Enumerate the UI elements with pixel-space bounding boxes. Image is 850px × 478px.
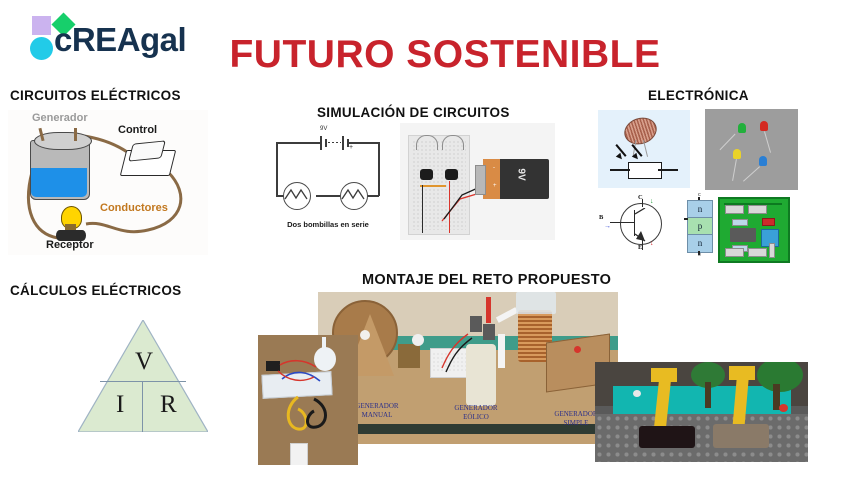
ldr-panel	[598, 110, 690, 188]
photo-wires	[428, 328, 518, 378]
logo-square-icon	[32, 16, 51, 35]
pcb-capacitor	[769, 243, 775, 258]
pcb-led	[762, 218, 775, 226]
led-blue-leg	[743, 166, 760, 182]
wind-blade-red	[486, 297, 491, 323]
simple-generator-led	[574, 346, 581, 353]
led-red-leg	[764, 131, 771, 152]
tinkercad-simulation-photo: - + 9V	[400, 123, 555, 240]
triangle-voltage: V	[135, 348, 153, 376]
logo-circle-icon	[30, 37, 53, 60]
photo-breadboard-circuit	[258, 335, 358, 465]
led-yellow-leg	[732, 159, 737, 181]
transistor-label-e: E	[638, 244, 642, 251]
pcb-ic-chip	[730, 228, 756, 242]
led-green-leg	[720, 134, 736, 151]
transistor-symbol: C B E ↓ ↓ →	[598, 196, 676, 258]
circuit-diagram-figure: Generador Control Conductores Receptor	[8, 110, 208, 255]
bulb-filament-2	[340, 182, 366, 208]
lamp-receptor-icon	[54, 206, 88, 242]
section-heading-circuitos: CIRCUITOS ELÉCTRICOS	[10, 88, 181, 103]
jumper-loop-2	[442, 135, 464, 150]
manual-generator-crank	[360, 330, 370, 340]
ev-charger-head-2	[729, 366, 755, 380]
wire-bottom-2	[316, 195, 340, 197]
battery-minus-label: -	[493, 165, 495, 171]
logo-wordmark: cREAgal	[54, 21, 186, 59]
battery-long-plate-2	[342, 136, 344, 150]
npn-layer-bottom: n	[687, 234, 713, 253]
pcb-pad-4	[748, 248, 767, 257]
battery-9v-photo: - + 9V	[475, 159, 549, 199]
label-control: Control	[118, 124, 157, 136]
coil-component	[398, 344, 420, 368]
pcb-board-icon	[718, 197, 790, 263]
triangle-resistance: R	[160, 391, 177, 419]
current-arrow-emitter: ↓	[650, 240, 654, 247]
ev-charger-head-1	[651, 368, 677, 382]
led-blue-icon	[759, 156, 767, 166]
schematic-caption: Dos bombillas en serie	[268, 220, 388, 229]
flower-white	[633, 390, 641, 397]
jumper-black	[422, 185, 423, 233]
triangle-current: I	[116, 391, 124, 419]
bulb-component-1	[420, 169, 433, 180]
triangle-divider-vertical	[142, 381, 143, 432]
battery-short-plate-1	[325, 139, 327, 147]
series-circuit-schematic: 9V + Dos bombillas en serie	[268, 128, 388, 233]
switch-control-icon	[123, 140, 175, 178]
ldr-symbol	[610, 162, 678, 180]
npn-label-collector: c	[698, 192, 701, 198]
car-light	[713, 424, 769, 448]
schematic-voltage-label: 9V	[320, 126, 327, 132]
page-title: FUTURO SOSTENIBLE	[210, 33, 680, 77]
battery-generator-icon	[30, 132, 92, 204]
jumper-loop-1	[416, 135, 438, 150]
battery-long-plate-1	[320, 136, 322, 150]
small-motor	[412, 334, 424, 346]
pcb-pad-3	[725, 248, 744, 257]
npn-layers-diagram: n p n c e	[684, 197, 714, 257]
section-heading-calculos: CÁLCULOS ELÉCTRICOS	[10, 283, 181, 298]
photo-generators-setup: GENERADOR MANUAL GENERADOR EÓLICO GENERA…	[318, 292, 618, 444]
section-heading-electronica: ELECTRÓNICA	[648, 88, 749, 103]
ldr-photo-icon	[621, 114, 660, 149]
flower-red	[779, 404, 788, 412]
transistor-label-c: C	[638, 194, 643, 201]
pcb-pad-1	[725, 205, 744, 214]
leds-photo-panel	[705, 109, 798, 190]
battery-voltage-label: 9V	[516, 168, 527, 180]
wire-right	[378, 142, 380, 196]
photo-ev-charging-model	[595, 362, 808, 462]
led-yellow-icon	[733, 149, 741, 159]
label-conductores: Conductores	[100, 202, 168, 214]
battery-dashed-link	[328, 142, 341, 143]
photo-cables-left	[278, 393, 338, 453]
section-heading-simulacion: SIMULACIÓN DE CIRCUITOS	[317, 105, 510, 120]
ohm-law-triangle: V I R	[78, 320, 208, 432]
photo-label-eolico: GENERADOR EÓLICO	[438, 404, 514, 422]
car-dark	[639, 426, 695, 448]
plastic-cup	[516, 292, 556, 314]
npn-label-emitter: e	[698, 252, 701, 258]
multimeter-probe	[290, 443, 308, 465]
model-ground	[595, 414, 808, 462]
spoon-handle	[322, 337, 326, 353]
section-heading-montaje: MONTAJE DEL RETO PROPUESTO	[362, 272, 611, 288]
brand-logo: cREAgal	[24, 14, 184, 66]
current-arrow-collector: ↓	[650, 198, 654, 205]
pcb-resistor-1	[732, 219, 748, 226]
npn-pin-base	[684, 218, 688, 220]
transistor-junction-lines	[632, 208, 648, 242]
led-red-icon	[760, 121, 768, 131]
wire-top-left	[276, 142, 320, 144]
bulb-filament-1	[283, 182, 309, 208]
battery-plus-label: +	[493, 183, 497, 189]
current-arrow-base: →	[604, 223, 611, 230]
led-green-icon	[738, 123, 746, 133]
transistor-label-b: B	[599, 214, 603, 221]
wire-left	[276, 142, 278, 196]
pcb-pad-2	[748, 205, 767, 214]
battery-plus-sign: +	[349, 144, 353, 151]
tree-trunk-1	[705, 382, 711, 408]
label-generador: Generador	[32, 112, 88, 124]
